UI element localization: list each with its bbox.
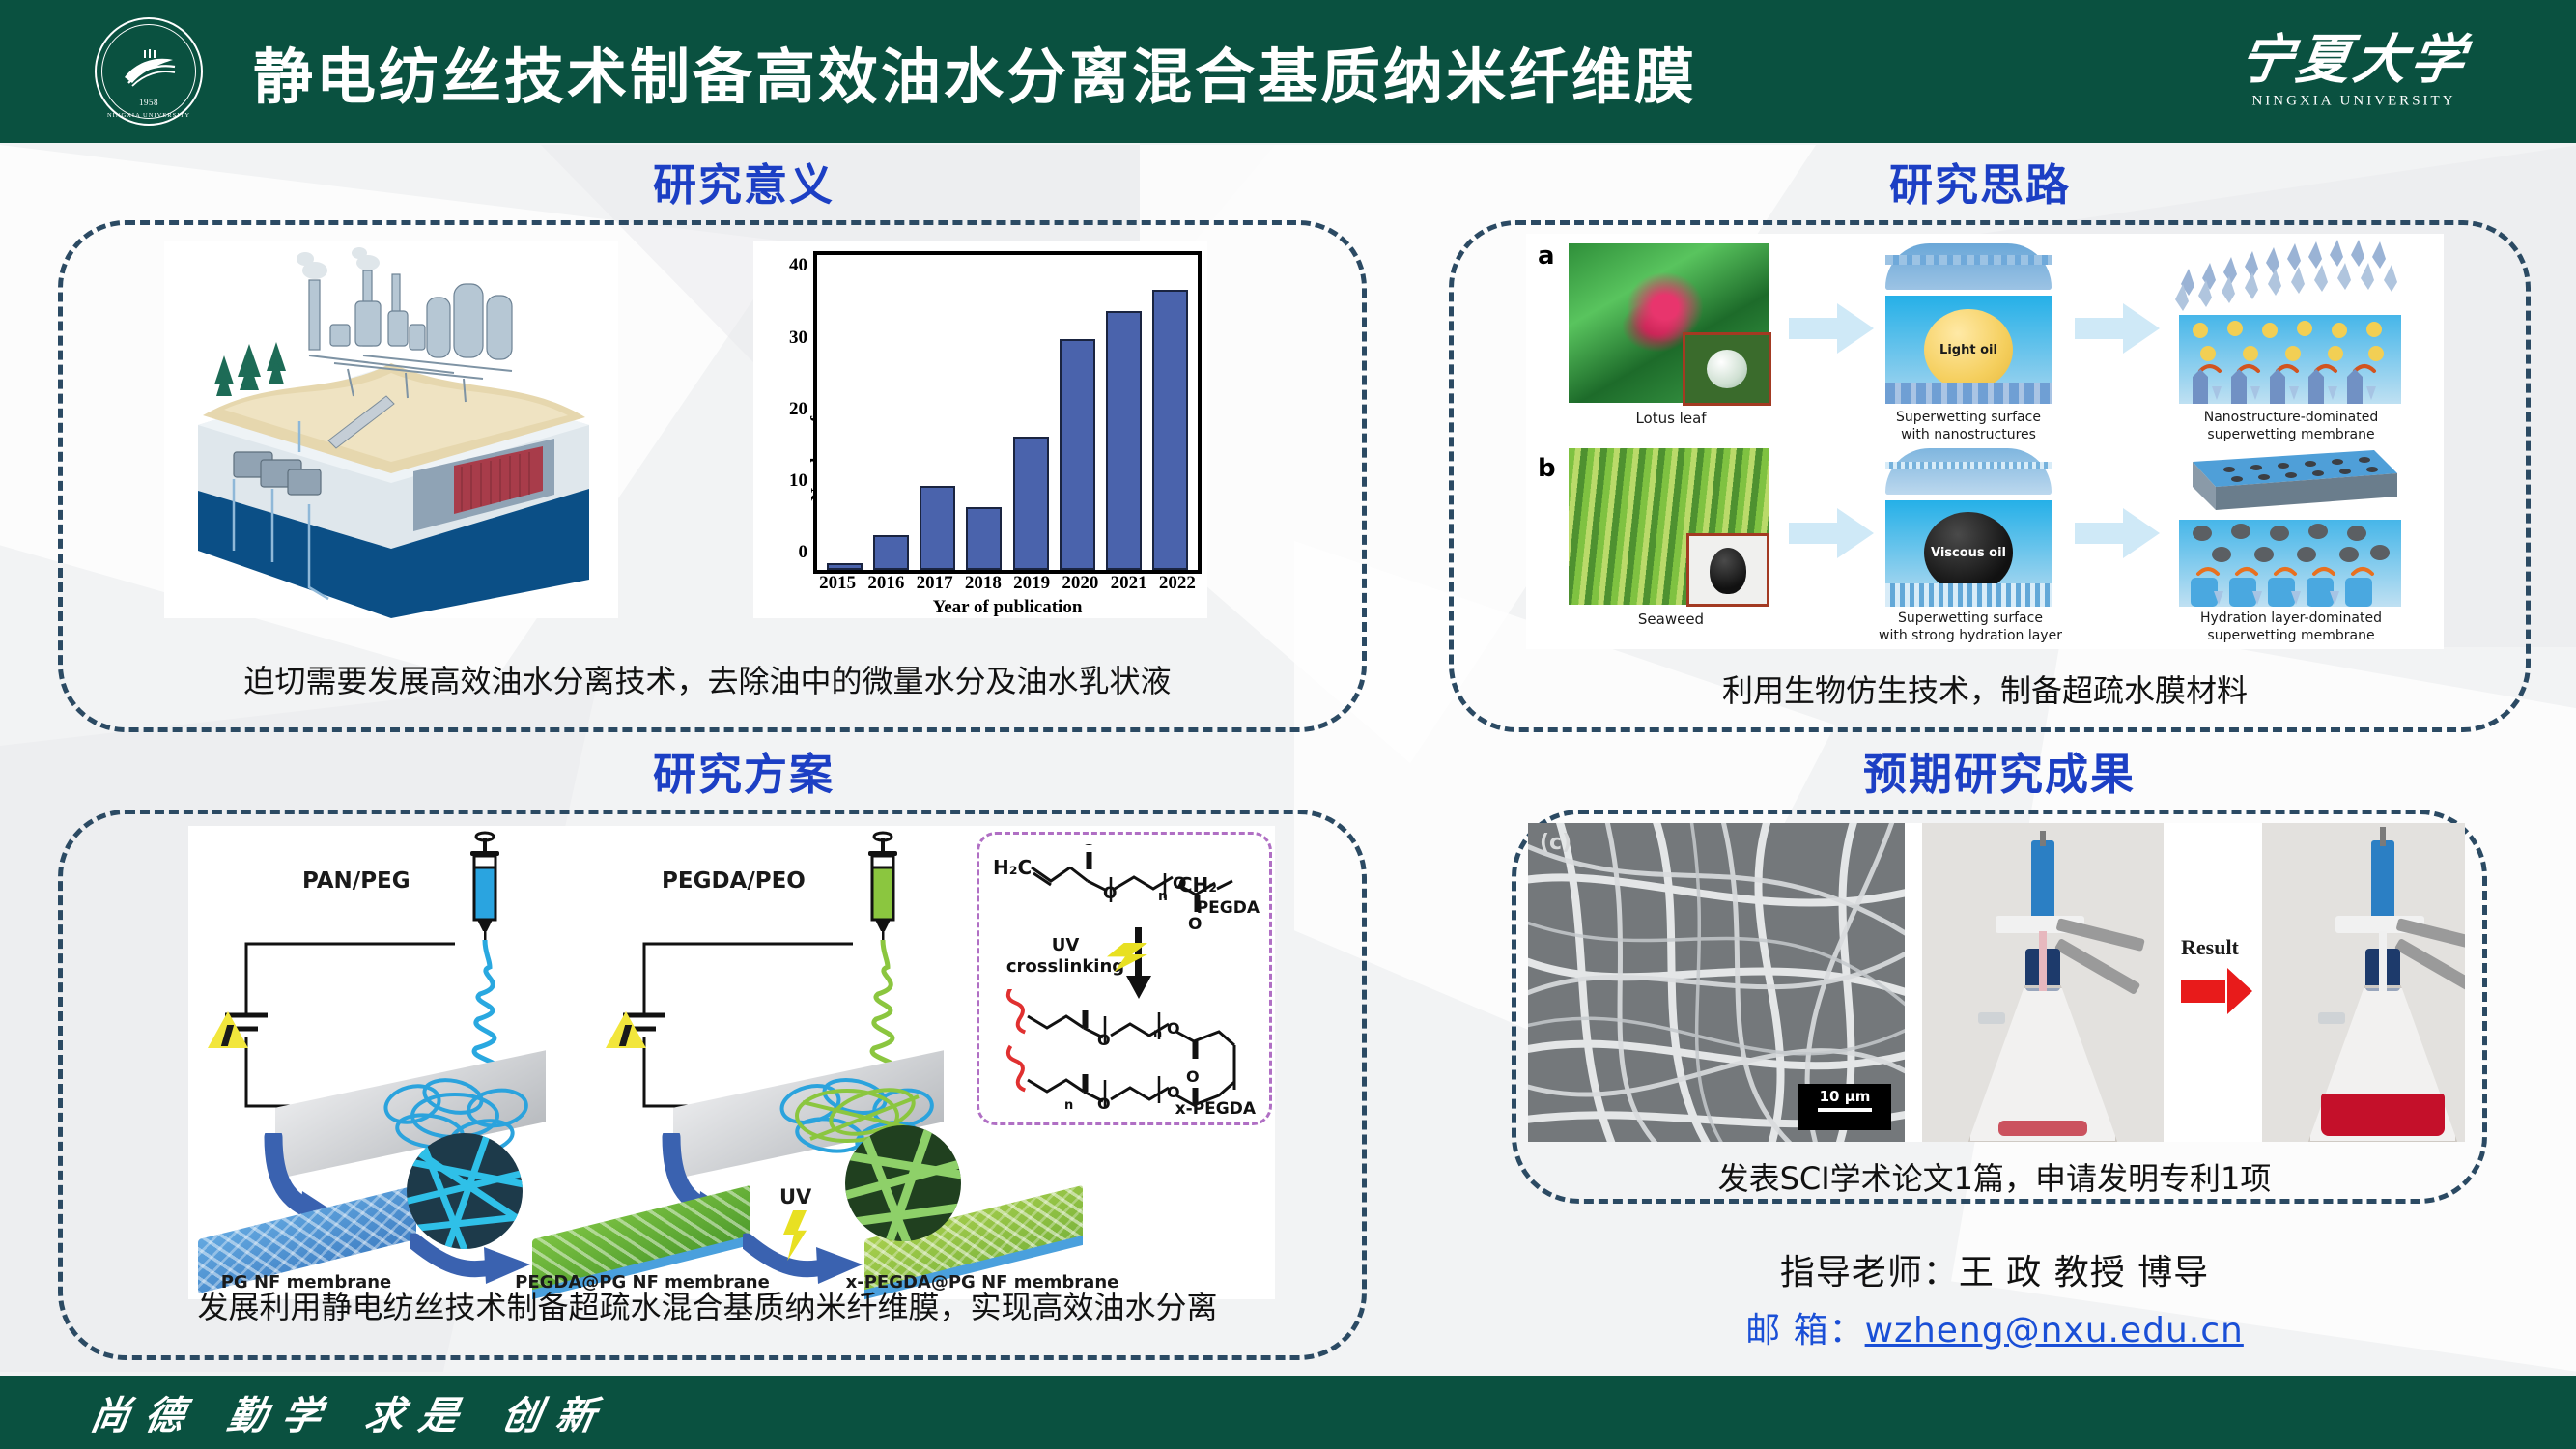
label-line2: with nanostructures <box>1901 427 2036 442</box>
nanostructure-membrane-3d-a <box>2171 240 2409 313</box>
page-header: 1958 NINGXIA UNIVERSITY 静电纺丝技术制备高效油水分离混合… <box>0 0 2576 143</box>
chart-bar <box>1152 290 1188 570</box>
university-logo-cn: 宁夏大学 <box>2236 34 2472 87</box>
superwetting-surface-label-b: Superwetting surface with strong hydrati… <box>1854 611 2086 644</box>
seaweed-photo <box>1569 448 1769 605</box>
flow-arrow-icon <box>1789 303 1874 354</box>
svg-text:O: O <box>1173 874 1186 894</box>
hydration-cross-section-b <box>2179 520 2401 607</box>
results-figure: (c) 10 μm Result <box>1528 823 2465 1142</box>
hydration-membrane-label-b: Hydration layer-dominated superwetting m… <box>2154 611 2428 644</box>
email-line[interactable]: 邮 箱：wzheng@nxu.edu.cn <box>1512 1302 2477 1352</box>
email-label: 邮 箱： <box>1745 1311 1864 1350</box>
nanostructure-membrane-label-a: Nanostructure-dominated superwetting mem… <box>2160 410 2422 443</box>
chart-x-tick: 2016 <box>867 573 905 594</box>
superwetting-cell-a: Light oil <box>1885 296 2052 404</box>
sem-panel-letter: (c) <box>1540 831 1571 855</box>
label-line1: Superwetting surface <box>1898 611 2043 626</box>
hydration-membrane-3d-b <box>2175 444 2407 518</box>
x-pegda-label: x-PEGDA <box>1175 1099 1256 1119</box>
high-voltage-warning-icon-right <box>606 1011 646 1048</box>
chart-bar <box>1013 437 1049 570</box>
svg-text:n: n <box>1158 889 1168 904</box>
uv-label-line2: crosslinking <box>1006 956 1124 977</box>
flask-neck-before <box>2039 931 2047 991</box>
chemistry-structure-box: H₂C CH₂ PEGDA O O O O n UV crosslinking <box>977 832 1272 1125</box>
electrospinning-scheme-figure: PAN/PEG PEGDA/PEO <box>188 826 1275 1299</box>
viscous-oil-label: Viscous oil <box>1931 546 2006 560</box>
chart-bar <box>966 507 1002 570</box>
chart-x-tick: 2019 <box>1013 573 1051 594</box>
superwetting-surface-label-a: Superwetting surface with nanostructures <box>1866 410 2071 443</box>
chart-y-tick: 20 <box>789 399 807 420</box>
viscous-oil-droplet: Viscous oil <box>1924 512 2013 593</box>
seal-english-label: NINGXIA UNIVERSITY <box>107 112 190 119</box>
side-arm-after <box>2318 1012 2345 1024</box>
section-title-results: 预期研究成果 <box>1777 739 2222 802</box>
svg-text:O: O <box>1082 844 1095 850</box>
chart-x-tick: 2020 <box>1062 573 1099 594</box>
zoom-circle-pg <box>407 1133 523 1249</box>
high-voltage-warning-icon-left <box>208 1011 248 1048</box>
biomimetic-figure: a Lotus leaf Light oil Superwetting surf… <box>1526 234 2444 649</box>
syringe-left <box>467 830 503 944</box>
chart-y-tick: 30 <box>789 327 807 349</box>
university-motto: 尚德 勤学 求是 创新 <box>87 1384 616 1440</box>
flask-body-before <box>1967 985 2118 1142</box>
figure-letter-a: a <box>1538 241 1555 270</box>
lotus-leaf-label: Lotus leaf <box>1584 410 1758 427</box>
chart-x-tick: 2021 <box>1110 573 1147 594</box>
syringe-icon <box>467 830 503 944</box>
chart-x-tick: 2018 <box>965 573 1003 594</box>
chart-bar <box>1060 339 1095 570</box>
plunger-rod-before <box>2040 831 2046 846</box>
syringe-left-label: PAN/PEG <box>302 868 410 894</box>
syringe-right-label: PEGDA/PEO <box>662 868 806 894</box>
fiber-zoom-icon <box>845 1125 961 1241</box>
chart-y-ticks: 0 10 20 30 40 <box>769 251 807 574</box>
filtration-photo-before <box>1922 823 2164 1142</box>
chart-y-tick: 10 <box>789 470 807 492</box>
seal-emblem-icon <box>119 48 179 87</box>
porous-membrane-icon <box>2175 444 2407 518</box>
section-title-scheme: 研究方案 <box>541 739 947 802</box>
university-seal-icon: 1958 NINGXIA UNIVERSITY <box>95 17 203 126</box>
section-title-significance: 研究意义 <box>541 150 947 213</box>
superwetting-surface-top-b <box>1885 448 2052 495</box>
svg-text:O: O <box>1188 915 1202 934</box>
superwetting-cell-b: Viscous oil <box>1885 500 2052 607</box>
label-line2: with strong hydration layer <box>1879 628 2062 643</box>
seaweed-label: Seaweed <box>1584 611 1758 628</box>
plunger-rod-after <box>2380 827 2386 846</box>
light-oil-droplet: Light oil <box>1924 309 2013 390</box>
chart-bar <box>827 563 863 570</box>
chart-bar <box>873 535 909 570</box>
light-oil-label: Light oil <box>1939 343 1997 357</box>
superwetting-surface-top-a <box>1885 243 2052 290</box>
label-line1: Nanostructure-dominated <box>2204 410 2379 425</box>
chart-y-tick: 0 <box>799 542 808 563</box>
lotus-leaf-photo <box>1569 243 1769 403</box>
nanostructure-cross-section-a <box>2179 315 2401 404</box>
caption-significance: 迫切需要发展高效油水分离技术，去除油中的微量水分及油水乳状液 <box>58 657 1357 701</box>
uv-label-line1: UV <box>1052 935 1080 955</box>
filtration-photo-after <box>2262 823 2465 1142</box>
university-logo-en: NINGXIA UNIVERSITY <box>2240 94 2468 110</box>
oil-facility-svg <box>164 241 618 618</box>
label-line2: superwetting membrane <box>2207 427 2374 442</box>
label-line1: Superwetting surface <box>1896 410 2041 425</box>
label-line1: Hydration layer-dominated <box>2200 611 2382 626</box>
caption-scheme: 发展利用静电纺丝技术制备超疏水混合基质纳米纤维膜，实现高效油水分离 <box>58 1283 1357 1327</box>
section-title-approach: 研究思路 <box>1777 150 2183 213</box>
caption-approach: 利用生物仿生技术，制备超疏水膜材料 <box>1449 667 2521 711</box>
nanopillar-array-icon <box>2171 240 2409 313</box>
email-link[interactable]: wzheng@nxu.edu.cn <box>1865 1311 2244 1350</box>
pegda-structure-icon: O O O O n <box>989 844 1260 937</box>
chart-bars <box>817 255 1198 570</box>
scale-bar-line <box>1818 1108 1872 1112</box>
label-line2: superwetting membrane <box>2207 628 2374 643</box>
chart-bar <box>1106 311 1142 570</box>
nanostructure-detail-icon <box>2179 315 2401 404</box>
fiber-zoom-icon <box>407 1133 523 1249</box>
flask-liquid-before <box>1998 1121 2087 1136</box>
syringe-icon <box>864 830 901 944</box>
chart-plot-area <box>813 251 1202 574</box>
flow-arrow-icon <box>1789 508 1874 558</box>
caption-results: 发表SCI学术论文1篇，申请发明专利1项 <box>1512 1154 2477 1199</box>
flow-arrow-icon <box>2075 508 2160 558</box>
chart-x-ticks: 2015 2016 2017 2018 2019 2020 2021 2022 <box>813 572 1202 595</box>
page-footer: 尚德 勤学 求是 创新 <box>0 1376 2576 1449</box>
papers-bar-chart: Number of papers 0 10 20 30 40 2015 2016… <box>753 241 1207 618</box>
syringe-right <box>864 830 901 944</box>
svg-text:n: n <box>1153 1027 1162 1041</box>
chart-y-tick: 40 <box>789 255 807 276</box>
seal-year-label: 1958 <box>139 98 158 107</box>
university-logo: 宁夏大学 NINGXIA UNIVERSITY <box>2240 34 2468 110</box>
chart-bar <box>920 486 955 570</box>
zoom-circle-xpegda <box>845 1125 961 1241</box>
svg-text:O: O <box>1167 1019 1180 1037</box>
chart-x-axis-label: Year of publication <box>813 597 1202 618</box>
side-arm-before <box>1978 1012 2005 1024</box>
chart-x-tick: 2015 <box>819 573 857 594</box>
uv-exposure-label: UV <box>779 1185 811 1208</box>
arrow-shaft <box>2181 980 2225 1003</box>
hydration-detail-icon <box>2179 520 2401 607</box>
sem-scale-bar: 10 μm <box>1798 1084 1891 1130</box>
flask-neck-after <box>2379 931 2387 991</box>
svg-text:n: n <box>1064 1098 1073 1113</box>
x-pegda-structure-icon: O O O n O O n <box>987 989 1265 1115</box>
scale-bar-label: 10 μm <box>1820 1088 1871 1105</box>
result-arrow-icon <box>2181 968 2252 1014</box>
flask-liquid-after <box>2321 1094 2445 1136</box>
chart-x-tick: 2017 <box>916 573 953 594</box>
flow-arrow-icon <box>2075 303 2160 354</box>
sem-fiber-image: (c) 10 μm <box>1528 823 1905 1142</box>
arrow-head <box>2227 968 2252 1014</box>
figure-letter-b: b <box>1538 454 1556 483</box>
chart-x-tick: 2022 <box>1159 573 1197 594</box>
advisor-line: 指导老师：王 政 教授 博导 <box>1512 1244 2477 1294</box>
page-title: 静电纺丝技术制备高效油水分离混合基质纳米纤维膜 <box>253 28 1697 115</box>
clamp-arm2-after <box>2394 938 2465 995</box>
svg-text:O: O <box>1186 1067 1200 1086</box>
result-arrow-label: Result <box>2181 935 2239 960</box>
oil-facility-illustration <box>164 241 618 618</box>
